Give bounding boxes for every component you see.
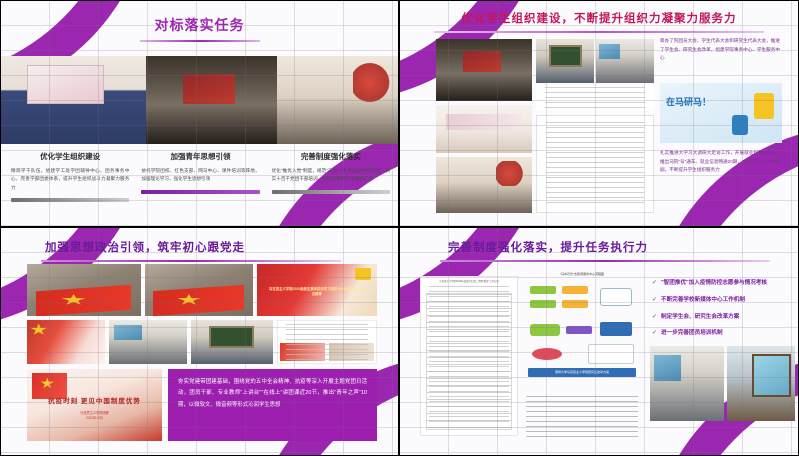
congress-hall-photo [436, 39, 532, 101]
column-1-body: 精简学干队伍，组建学工处学团辅导中心、团务事务中心，完善学部团委体系，提升学生组… [11, 167, 129, 192]
title-underline [440, 260, 770, 262]
document-title: 马克思主义学院2020年度研究生第二学期"推优"工作方案 [425, 280, 513, 284]
check-icon: ✓ [652, 297, 657, 304]
checklist-item-label: 进一步完善团员培训机制 [661, 330, 723, 338]
photo-row-middle [27, 320, 377, 364]
lecture-podium-photo [436, 105, 532, 153]
three-column-text: 优化学生组织建设 精简学干队伍，组建学工处学团辅导中心、团务事务中心，完善学部团… [1, 151, 399, 202]
study-banner-graphic: 马克思主义学院2020级新生集体团日学习党的十九届五中全会会议精神 [257, 264, 377, 316]
seminar-room-photo [650, 346, 724, 421]
bottom-row: 抗疫时刻 更见中国制度优势 马克思主义学院团委 2020年12月 夯实党建带团建… [27, 369, 377, 441]
checklist-item: ✓ 不断完善学校新媒体中心工作机制 [652, 297, 792, 305]
party-flag-group-photo-2 [145, 264, 253, 316]
flowchart-title: "马中月光"志愿者服务中心流程图 [526, 272, 638, 276]
flow-note [588, 344, 634, 364]
title-underline [140, 40, 260, 42]
flow-node-8 [600, 322, 632, 336]
youth-league-group-photo [27, 320, 105, 364]
column-2: 加强青年思想引领 依托学院团校、红色支部、网马中心、课件培训等阵地，加强理论学习… [137, 151, 263, 202]
flow-node-6 [530, 324, 560, 336]
poster-title: 抗疫时刻 更见中国制度优势 [27, 395, 162, 405]
poster-subtitle: 马克思主义学院团委 2020年12月 [27, 411, 162, 422]
slide-title: 加强思想政治引领，筑牢初心跟党走 [1, 228, 398, 255]
slide-content: 完善制度强化落实，提升任务执行力 马克思主义学院2020年度研究生第二学期"推优… [400, 228, 798, 455]
slide-top-right: 优化学生组织建设，不断提升组织力凝聚力服务力 筹办了院团员大会、学生代表大会和研… [399, 0, 799, 227]
column-3-heading: 完善制度强化落实 [272, 151, 390, 162]
photo-pair [650, 346, 795, 421]
checklist-item: ✓ 进一步完善团员培训机制 [652, 330, 792, 338]
person-icon-2 [732, 115, 748, 135]
policy-document-scan: 马克思主义学院2020年度研究生第二学期"推优"工作方案 [420, 276, 518, 436]
text-block-2: 扎实推进大学习大调研大走访工作，开展就业指导20余次，推出马院"号"通车、就业信… [660, 149, 782, 175]
check-icon: ✓ [652, 314, 657, 321]
check-icon: ✓ [652, 280, 657, 287]
slide-title: 完善制度强化落实，提升任务执行力 [400, 228, 798, 255]
flag-thumbnail [280, 343, 325, 361]
slide-title: 优化学生组织建设，不断提升组织力凝聚力服务力 [400, 1, 798, 26]
content-grid: 筹办了院团员大会、学生代表大会和研究生代表大会，推进了学生会、研究生会改革，组建… [412, 31, 787, 221]
flow-node-5 [600, 288, 632, 306]
flow-node-9 [532, 348, 562, 360]
person-icon [754, 93, 774, 119]
photo-row-top: 马克思主义学院2020级新生集体团日学习党的十九届五中全会会议精神 [27, 264, 377, 316]
presentation-podium-photo [727, 346, 795, 421]
slide-bottom-left: 加强思想政治引领，筑牢初心跟党走 马克思主义学院2020级新生集体团日学习党的十… [0, 227, 399, 456]
check-icon: ✓ [652, 330, 657, 337]
photo-caption-strip [536, 85, 654, 111]
slide-content: 加强思想政治引领，筑牢初心跟党走 马克思主义学院2020级新生集体团日学习党的十… [1, 228, 398, 455]
text-block-1: 筹办了院团员大会、学生代表大会和研究生代表大会，推进了学生会、研究生会改革，组建… [660, 37, 780, 63]
flow-node-1 [530, 286, 556, 294]
flow-node-2 [562, 286, 588, 294]
study-room-photo [277, 56, 399, 144]
title-underline [41, 260, 341, 262]
video-conference-photo [596, 39, 654, 83]
banner-caption: 在马研马！ [666, 95, 711, 108]
flowchart-diagram: "马中月光"志愿者服务中心流程图 南师大学马克思主义学院研究生改革方案 [526, 272, 638, 392]
summary-textbox: 夯实党建带团建基础，围绕党的五中全会精神、抗疫等深入开展主题党团日活动，团员干部… [168, 369, 377, 441]
column-2-bar [141, 190, 259, 194]
slide-top-left: 对标落实任务 优化学生组织建设 精简学干队伍，组建学工处学团辅导中心、团务事务中… [0, 0, 399, 227]
slide-deck: 对标落实任务 优化学生组织建设 精简学干队伍，组建学工处学团辅导中心、团务事务中… [0, 0, 799, 456]
slide-content: 对标落实任务 优化学生组织建设 精简学干队伍，组建学工处学团辅导中心、团务事务中… [1, 1, 398, 226]
classroom-group-photo [109, 320, 187, 364]
classroom-screen-photo [536, 39, 594, 83]
document-table [426, 293, 512, 430]
checklist: ✓ "智团推优"加入疫情防控志愿参与情况考核 ✓ 不断完善学校新媒体中心工作机制… [652, 280, 792, 347]
checklist-item-label: "智团推优"加入疫情防控志愿参与情况考核 [661, 280, 767, 288]
slide-title: 对标落实任务 [1, 1, 398, 35]
body-text-lines [526, 396, 638, 440]
slide-bottom-right: 完善制度强化落实，提升任务执行力 马克思主义学院2020年度研究生第二学期"推优… [399, 227, 799, 456]
column-1-heading: 优化学生组织建设 [11, 151, 129, 162]
checklist-item-label: 不断完善学校新媒体中心工作机制 [661, 297, 745, 305]
lecture-hall-group-photo [191, 320, 273, 364]
flow-node-7 [566, 326, 592, 334]
news-article-snippet [277, 320, 377, 364]
lecture-hall-photo [1, 56, 146, 144]
article-thumbnail [329, 343, 374, 361]
column-1: 优化学生组织建设 精简学干队伍，组建学工处学团辅导中心、团务事务中心，完善学部团… [7, 151, 133, 202]
column-2-body: 依托学院团校、红色支部、网马中心、课件培训等阵地，加强理论学习，强化学生思想引领 [141, 167, 259, 184]
column-3: 完善制度强化落实 优化"推优入党"制度，规范"三会一课"和班级评议制度，抓实十百… [268, 151, 394, 202]
research-illustration-banner: 在马研马！ [660, 83, 782, 143]
flow-node-4 [562, 300, 588, 308]
slide-content: 优化学生组织建设，不断提升组织力凝聚力服务力 筹办了院团员大会、学生代表大会和研… [400, 1, 798, 226]
column-3-bar [272, 190, 390, 194]
meeting-notice-document [536, 115, 654, 213]
photo-strip [1, 56, 399, 144]
checklist-item: ✓ "智团推优"加入疫情防控志愿参与情况考核 [652, 280, 792, 288]
flowchart-caption: 南师大学马克思主义学院研究生改革方案 [528, 368, 636, 377]
poster-image: 抗疫时刻 更见中国制度优势 马克思主义学院团委 2020年12月 [27, 369, 162, 441]
flow-node-3 [530, 300, 556, 308]
study-crowd-photo [436, 157, 532, 213]
checklist-item: ✓ 制定学生会、研究生会改革方案 [652, 314, 792, 322]
column-3-body: 优化"推优入党"制度，规范"三会一课"和班级评议制度，抓实十百千党团干部培训、团… [272, 167, 390, 184]
column-2-heading: 加强青年思想引领 [141, 151, 259, 162]
party-flag-group-photo-1 [27, 264, 141, 316]
flowchart-body-text [526, 396, 638, 440]
checklist-item-label: 制定学生会、研究生会改革方案 [661, 314, 739, 322]
content-grid: 马克思主义学院2020级新生集体团日学习党的十九届五中全会会议精神 抗疫时刻 更… [27, 264, 377, 441]
column-1-bar [11, 198, 129, 202]
banner-text: 马克思主义学院2020级新生集体团日学习党的十九届五中全会会议精神 [269, 287, 365, 298]
auditorium-meeting-photo [146, 56, 278, 144]
